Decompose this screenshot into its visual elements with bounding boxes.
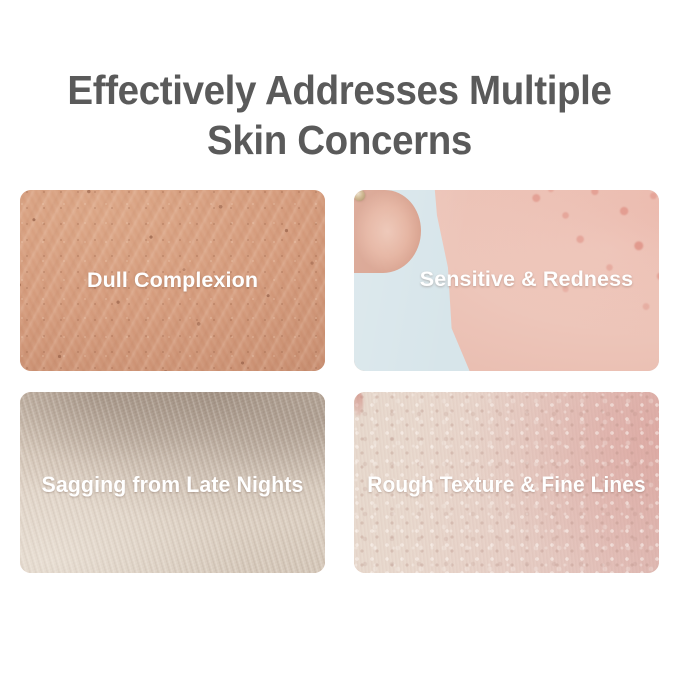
concern-card-rough-texture-fine-lines[interactable]: Rough Texture & Fine Lines xyxy=(354,392,659,573)
concern-card-dull-complexion[interactable]: Dull Complexion xyxy=(20,190,325,371)
concern-card-label: Rough Texture & Fine Lines xyxy=(362,472,652,498)
concern-card-label: Sensitive & Redness xyxy=(374,267,659,292)
concern-card-sagging-late-nights[interactable]: Sagging from Late Nights xyxy=(20,392,325,573)
page-title-line-1: Effectively Addresses Multiple xyxy=(20,65,658,115)
concern-card-label: Sagging from Late Nights xyxy=(25,472,321,498)
product-feature-graphic: Effectively Addresses Multiple Skin Conc… xyxy=(0,0,679,679)
concern-card-label: Dull Complexion xyxy=(20,268,325,293)
page-title: Effectively Addresses Multiple Skin Conc… xyxy=(20,65,658,165)
page-title-line-2: Skin Concerns xyxy=(20,115,658,165)
concern-card-sensitive-redness[interactable]: Sensitive & Redness xyxy=(354,190,659,371)
concern-card-grid: Dull Complexion Sensitive & Redness xyxy=(20,190,659,573)
